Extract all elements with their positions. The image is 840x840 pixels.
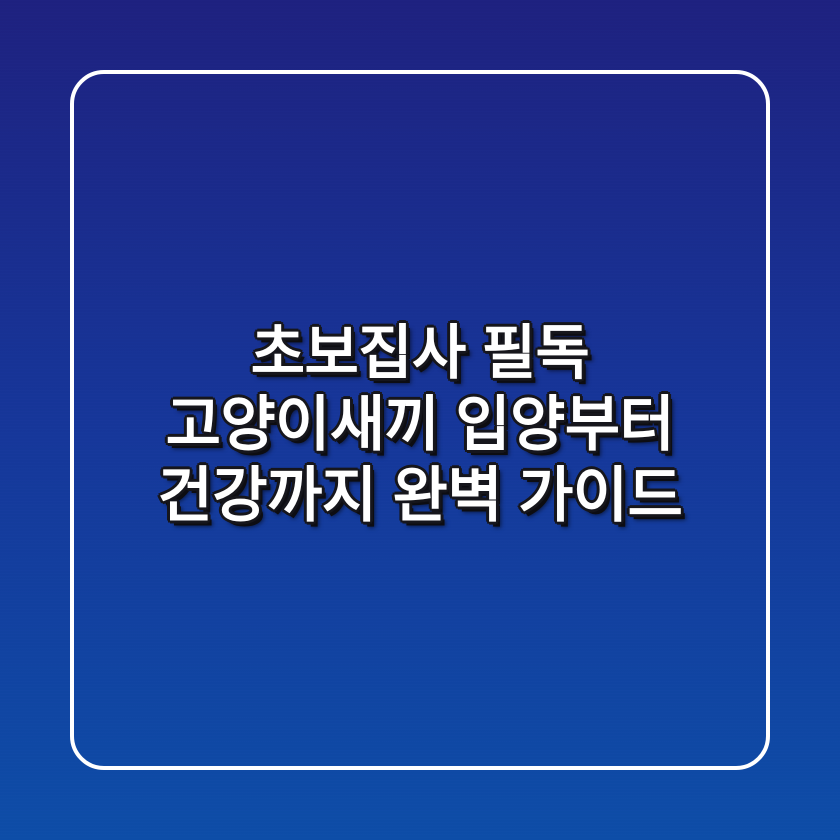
headline-line-1: 초보집사 필독 <box>78 318 762 389</box>
thumbnail-card: 초보집사 필독 고양이새끼 입양부터 건강까지 완벽 가이드 <box>0 0 840 840</box>
headline-line-3: 건강까지 완벽 가이드 <box>78 460 762 531</box>
headline-block: 초보집사 필독 고양이새끼 입양부터 건강까지 완벽 가이드 <box>0 318 840 531</box>
headline-line-2: 고양이새끼 입양부터 <box>78 389 762 460</box>
